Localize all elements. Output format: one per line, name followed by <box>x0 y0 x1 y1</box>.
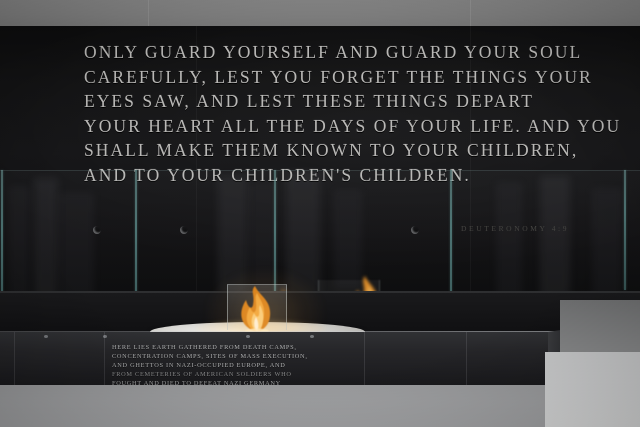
plaque-line: FROM CEMETERIES OF AMERICAN SOLDIERS WHO <box>112 371 346 380</box>
inscription-line: EYES SAW, AND LEST THESE THINGS DEPART <box>84 89 590 114</box>
floor-band <box>0 385 640 427</box>
plinth-stud <box>44 335 48 338</box>
plinth-stud <box>246 335 250 338</box>
glass-top-edge <box>0 170 640 171</box>
inscription-line: CAREFULLY, LEST YOU FORGET THE THINGS YO… <box>84 65 590 90</box>
glass-standoff <box>93 226 101 234</box>
glass-standoff <box>411 226 419 234</box>
eternal-flame-icon <box>232 286 282 332</box>
plinth-stud <box>103 335 107 338</box>
ceiling-seam <box>470 0 471 26</box>
plinth-back-top-edge <box>0 291 640 293</box>
plaque-line: AND GHETTOS IN NAZI-OCCUPIED EUROPE, AND <box>112 362 346 371</box>
ceiling-band <box>0 0 640 26</box>
inscription-line: ONLY GUARD YOURSELF AND GUARD YOUR SOUL <box>84 40 590 65</box>
wall-inscription: ONLY GUARD YOURSELF AND GUARD YOUR SOUL … <box>84 40 590 188</box>
inscription-attribution: DEUTERONOMY 4:9 <box>461 224 569 233</box>
glass-panel-edge <box>624 170 626 290</box>
inscription-line: SHALL MAKE THEM KNOWN TO YOUR CHILDREN, <box>84 138 590 163</box>
floor-bright-corner <box>545 352 640 427</box>
plaque-line: HERE LIES EARTH GATHERED FROM DEATH CAMP… <box>112 344 346 353</box>
memorial-plaque: HERE LIES EARTH GATHERED FROM DEATH CAMP… <box>112 344 346 388</box>
glass-standoff <box>180 226 188 234</box>
memorial-photo: ONLY GUARD YOURSELF AND GUARD YOUR SOUL … <box>0 0 640 427</box>
inscription-line: AND TO YOUR CHILDREN'S CHILDREN. <box>84 163 590 188</box>
plinth-stud <box>310 335 314 338</box>
plaque-line: CONCENTRATION CAMPS, SITES OF MASS EXECU… <box>112 353 346 362</box>
inscription-line: YOUR HEART ALL THE DAYS OF YOUR LIFE. AN… <box>84 114 590 139</box>
ceiling-seam <box>148 0 149 26</box>
floor-background <box>560 300 640 355</box>
